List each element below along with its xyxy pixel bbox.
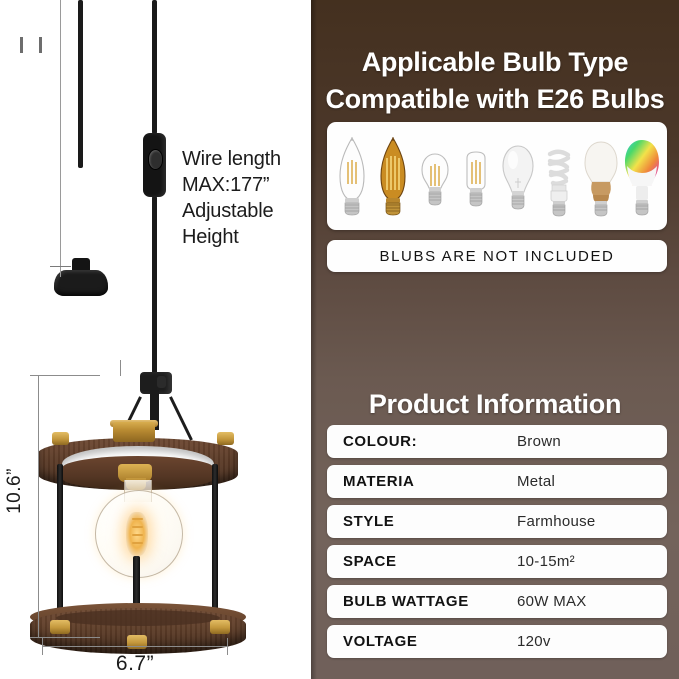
fixture-brace-right: [169, 396, 193, 440]
table-row: VOLTAGE 120v: [327, 625, 667, 658]
filament-coil: [132, 534, 143, 536]
pendant-light-fixture-icon: [0, 360, 311, 660]
info-key: BULB WATTAGE: [343, 593, 469, 610]
panel-left-edge-shadow: [311, 0, 317, 679]
bulb-title-line-2: Compatible with E26 Bulbs: [319, 81, 671, 118]
fixture-canopy-ring: [157, 376, 166, 388]
wire-note-line-1: Wire length: [182, 146, 311, 172]
info-value: Metal: [517, 473, 555, 490]
compatible-bulbs-row: [333, 128, 661, 224]
wire-length-note: Wire length MAX:177” Adjustable Height: [182, 146, 311, 250]
table-row: MATERIA Metal: [327, 465, 667, 498]
brass-collar: [113, 422, 155, 442]
rgb-smart-bulb-icon: [623, 132, 661, 224]
table-row: SPACE 10-15m²: [327, 545, 667, 578]
table-row: STYLE Farmhouse: [327, 505, 667, 538]
width-dimension-label: 6.7”: [42, 652, 228, 676]
brass-bolt: [52, 432, 69, 445]
height-dimension-tick-bottom: [30, 637, 100, 638]
bulbs-not-included-banner: BLUBS ARE NOT INCLUDED: [327, 240, 667, 272]
wire-note-line-4: Height: [182, 224, 311, 250]
gold-led-bulb-icon: [582, 132, 620, 224]
product-information-table: COLOUR: Brown MATERIA Metal STYLE Farmho…: [327, 425, 667, 665]
height-dimension-line: [38, 375, 39, 637]
product-information-title: Product Information: [319, 389, 671, 420]
width-dimension-line: [42, 646, 228, 647]
inline-cord-switch-icon: [143, 133, 166, 197]
bulbs-not-included-text: BLUBS ARE NOT INCLUDED: [380, 248, 615, 265]
brass-bolt: [50, 620, 70, 634]
brass-bolt: [210, 620, 230, 634]
info-value: Brown: [517, 433, 561, 450]
dimension-top-tick: [120, 360, 121, 376]
info-value: 60W MAX: [517, 593, 587, 610]
height-dimension-label: 10.6”: [4, 460, 26, 522]
bulb-title-line-1: Applicable Bulb Type: [319, 44, 671, 81]
brass-bolt: [217, 432, 234, 445]
wire-length-measure-tick: [50, 266, 71, 267]
plug-prong-left: [20, 37, 23, 53]
switch-rocker-icon: [148, 149, 163, 170]
cage-post-left: [57, 464, 63, 628]
clear-a19-filament-bulb-icon: [416, 132, 454, 224]
info-panel: Applicable Bulb Type Compatible with E26…: [311, 0, 679, 679]
plug-prong-right: [39, 37, 42, 53]
info-value: 120v: [517, 633, 551, 650]
filament-coil: [132, 526, 143, 528]
info-key: SPACE: [343, 553, 397, 570]
wire-note-line-2: MAX:177”: [182, 172, 311, 198]
info-value: Farmhouse: [517, 513, 596, 530]
compatible-bulbs-card: [327, 122, 667, 230]
info-key: COLOUR:: [343, 433, 417, 450]
table-row: BULB WATTAGE 60W MAX: [327, 585, 667, 618]
info-key: STYLE: [343, 513, 394, 530]
clear-tubular-t-bulb-icon: [457, 132, 495, 224]
info-key: VOLTAGE: [343, 633, 417, 650]
info-key: MATERIA: [343, 473, 414, 490]
info-value: 10-15m²: [517, 553, 575, 570]
filament-coil: [132, 542, 143, 544]
power-cord-left: [78, 0, 83, 168]
power-cord-upper: [152, 0, 157, 134]
power-cord-lower: [152, 196, 157, 376]
wire-note-line-3: Adjustable: [182, 198, 311, 224]
product-photo-panel: Wire length MAX:177” Adjustable Height: [0, 0, 311, 679]
wood-ring-bottom-inner: [56, 610, 220, 626]
cfl-spiral-bulb-icon: [540, 132, 578, 224]
cage-post-right: [212, 464, 218, 628]
frosted-incandescent-bulb-icon: [499, 132, 537, 224]
bulb-section-title: Applicable Bulb Type Compatible with E26…: [319, 44, 671, 118]
filament-coil: [132, 518, 143, 520]
wire-length-measure-line: [60, 0, 61, 277]
product-infographic: Wire length MAX:177” Adjustable Height: [0, 0, 679, 679]
plug-body: [54, 270, 108, 296]
table-row: COLOUR: Brown: [327, 425, 667, 458]
clear-st64-edison-bulb-icon: [333, 132, 371, 224]
height-dimension-tick-top: [30, 375, 100, 376]
amber-st64-edison-bulb-icon: [374, 132, 412, 224]
